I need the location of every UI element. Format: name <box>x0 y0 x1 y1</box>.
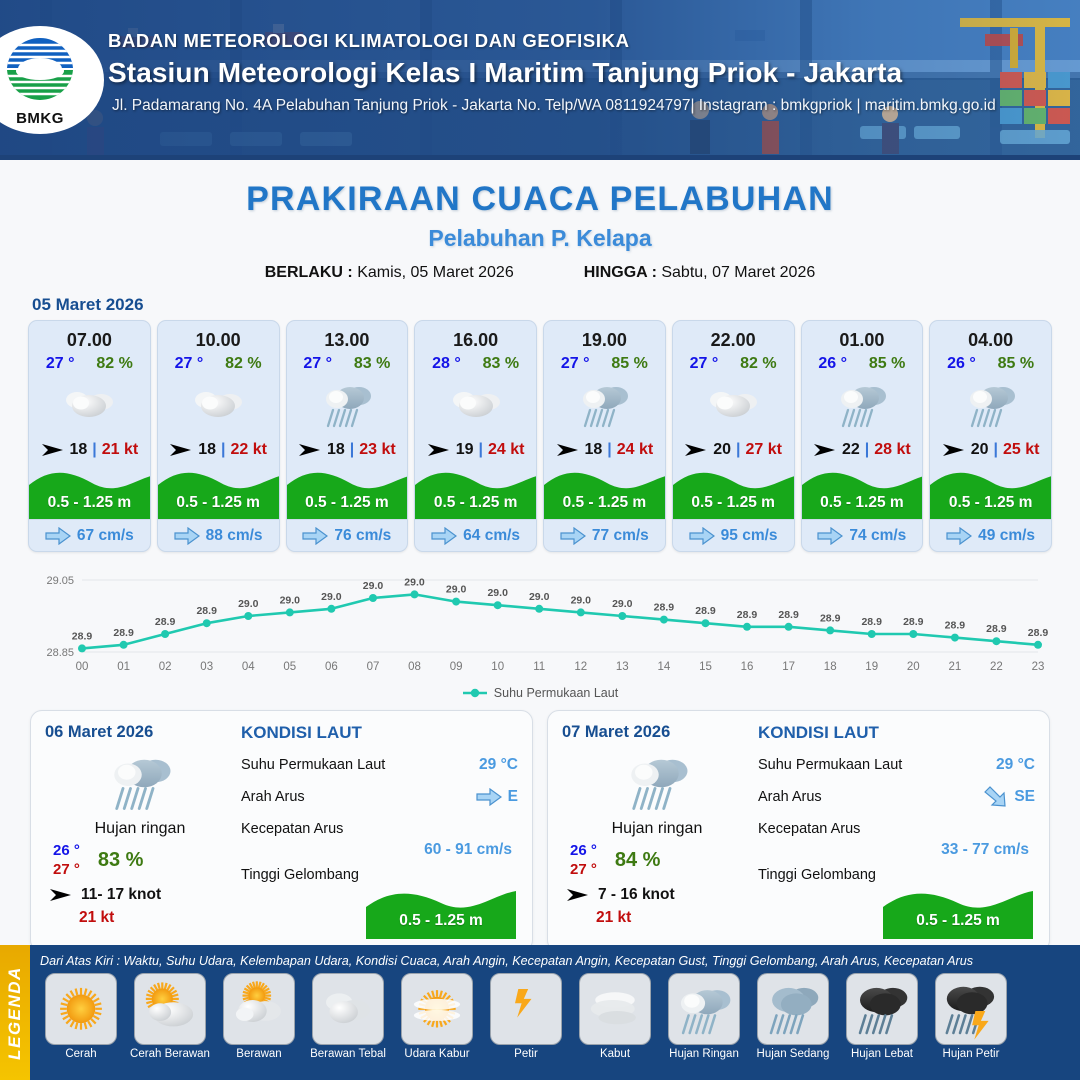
legend-item-label: Hujan Ringan <box>661 1048 747 1060</box>
panel-temp-min: 26 ° <box>53 842 80 859</box>
card-wind-sep: | <box>865 441 869 459</box>
arrow-right-icon <box>45 527 71 545</box>
svg-text:29.0: 29.0 <box>280 594 301 606</box>
card-temperature: 27 ° <box>561 355 590 373</box>
svg-text:09: 09 <box>450 661 463 673</box>
validity-row: BERLAKU : Kamis, 05 Maret 2026 HINGGA : … <box>0 264 1080 282</box>
wind-arrow-icon <box>49 887 73 903</box>
legend-item-label: Hujan Petir <box>928 1048 1014 1060</box>
card-wind-dir: 19 <box>456 441 474 459</box>
legend-item-icon-box <box>757 973 829 1045</box>
legend-item: Udara Kabur <box>394 973 480 1060</box>
panel-wave-label: Tinggi Gelombang <box>758 867 1035 883</box>
hourly-card: 22.00 27 ° 82 % 20 | 27 kt 0.5 - 1.25 m … <box>672 320 795 552</box>
card-wind: 18 | 24 kt <box>544 435 665 465</box>
legend-item-icon-box <box>223 973 295 1045</box>
arrow-right-icon <box>476 788 502 806</box>
panel-wave-label: Tinggi Gelombang <box>241 867 518 883</box>
card-time: 01.00 <box>802 321 923 351</box>
legend-item: Berawan <box>216 973 302 1060</box>
card-temperature: 26 ° <box>947 355 976 373</box>
legend-item-icon-box <box>668 973 740 1045</box>
svg-text:22: 22 <box>990 661 1003 673</box>
svg-text:28.9: 28.9 <box>72 630 93 642</box>
card-wind: 18 | 23 kt <box>287 435 408 465</box>
panel-wind-speed: 11- 17 knot <box>81 886 161 904</box>
cloudy-icon <box>446 376 506 432</box>
svg-text:08: 08 <box>408 661 421 673</box>
sun-icon <box>48 978 114 1040</box>
card-wind-dir: 18 <box>585 441 603 459</box>
card-time: 07.00 <box>29 321 150 351</box>
chart-legend: Suhu Permukaan Laut <box>0 686 1080 700</box>
card-current-speed: 95 cm/s <box>721 527 778 545</box>
legend-item-label: Petir <box>483 1048 569 1060</box>
svg-text:29.0: 29.0 <box>571 594 592 606</box>
card-humidity: 82 % <box>96 355 132 373</box>
panel-wind-speed: 7 - 16 knot <box>598 886 675 904</box>
legend-section: LEGENDA Dari Atas Kiri : Waktu, Suhu Uda… <box>0 945 1080 1080</box>
svg-text:07: 07 <box>367 661 380 673</box>
wind-arrow-icon <box>942 442 966 458</box>
legend-item: Hujan Petir <box>928 973 1014 1060</box>
legend-item-icon-box <box>401 973 473 1045</box>
hourly-card: 10.00 27 ° 82 % 18 | 22 kt 0.5 - 1.25 m … <box>157 320 280 552</box>
card-wave-height: 0.5 - 1.25 m <box>802 494 923 512</box>
legend-items: Cerah Cerah Berawan Berawan Berawan Teba… <box>38 973 1074 1060</box>
cloudy-icon <box>188 376 248 432</box>
valid-to-value: Sabtu, 07 Maret 2026 <box>661 264 815 281</box>
card-time: 13.00 <box>287 321 408 351</box>
legend-side-title: LEGENDA <box>5 966 25 1060</box>
sun-cloud-icon <box>137 978 203 1040</box>
panel-temp-min: 26 ° <box>570 842 597 859</box>
legend-item-label: Hujan Lebat <box>839 1048 925 1060</box>
legend-item-label: Berawan <box>216 1048 302 1060</box>
panel-current-speed-label: Kecepatan Arus <box>758 821 1035 837</box>
agency-name: BADAN METEOROLOGI KLIMATOLOGI DAN GEOFIS… <box>108 30 1068 52</box>
legend-item-icon-box <box>490 973 562 1045</box>
legend-item: Hujan Sedang <box>750 973 836 1060</box>
panel-current-dir-row: Arah Arus E <box>241 781 518 813</box>
legend-item-label: Cerah Berawan <box>127 1048 213 1060</box>
svg-text:23: 23 <box>1032 661 1045 673</box>
valid-to-label: HINGGA : <box>584 264 657 281</box>
card-current-speed: 74 cm/s <box>849 527 906 545</box>
card-wind: 22 | 28 kt <box>802 435 923 465</box>
svg-text:21: 21 <box>949 661 962 673</box>
svg-text:28.9: 28.9 <box>113 627 134 639</box>
hourly-day-label: 05 Maret 2026 <box>32 295 1080 315</box>
card-weather-icon <box>930 373 1051 435</box>
panel-current-dir-row: Arah Arus SE <box>758 781 1035 813</box>
card-wind: 18 | 22 kt <box>158 435 279 465</box>
card-wind: 18 | 21 kt <box>29 435 150 465</box>
light-rain-icon <box>574 376 634 432</box>
svg-text:00: 00 <box>76 661 89 673</box>
legend-item: Cerah <box>38 973 124 1060</box>
thunderstorm-icon <box>938 978 1004 1040</box>
card-wind-sep: | <box>92 441 96 459</box>
wind-arrow-icon <box>813 442 837 458</box>
legend-side-title-bar: LEGENDA <box>0 945 30 1080</box>
wind-arrow-icon <box>298 442 322 458</box>
wave-shape <box>883 883 1033 939</box>
valid-from: BERLAKU : Kamis, 05 Maret 2026 <box>265 264 514 282</box>
card-current: 88 cm/s <box>158 519 279 551</box>
svg-text:14: 14 <box>658 661 671 673</box>
svg-text:12: 12 <box>574 661 587 673</box>
wind-arrow-icon <box>169 442 193 458</box>
card-weather-icon <box>287 373 408 435</box>
card-current: 95 cm/s <box>673 519 794 551</box>
card-wind-gust: 28 kt <box>874 441 910 459</box>
wind-arrow-icon <box>684 442 708 458</box>
panel-temp-max: 27 ° <box>570 861 597 878</box>
daily-panel: 07 Maret 2026 Hujan ringan 26 ° 27 ° 84 … <box>547 710 1050 952</box>
svg-text:15: 15 <box>699 661 712 673</box>
card-wave-height: 0.5 - 1.25 m <box>930 494 1051 512</box>
card-wind-sep: | <box>607 441 611 459</box>
panel-current-dir-value: SE <box>1014 788 1035 806</box>
svg-text:18: 18 <box>824 661 837 673</box>
header-bottom-bar <box>0 155 1080 160</box>
card-humidity: 85 % <box>869 355 905 373</box>
card-humidity: 85 % <box>611 355 647 373</box>
daily-forecast-row: 06 Maret 2026 Hujan ringan 26 ° 27 ° 83 … <box>0 700 1080 952</box>
card-current: 64 cm/s <box>415 519 536 551</box>
panel-wave-value: 0.5 - 1.25 m <box>366 912 516 930</box>
panel-sst-row: Suhu Permukaan Laut 29 °C <box>758 749 1035 781</box>
card-weather-icon <box>802 373 923 435</box>
arrow-right-icon <box>946 527 972 545</box>
panel-current-dir-label: Arah Arus <box>758 789 982 805</box>
card-current: 77 cm/s <box>544 519 665 551</box>
wind-arrow-icon <box>556 442 580 458</box>
card-wind-dir: 18 <box>70 441 88 459</box>
svg-text:28.85: 28.85 <box>46 647 74 659</box>
card-wind-gust: 22 kt <box>231 441 267 459</box>
card-wind-gust: 27 kt <box>746 441 782 459</box>
panel-wind: 11- 17 knot <box>45 886 235 904</box>
card-current-speed: 49 cm/s <box>978 527 1035 545</box>
legend-item: Hujan Ringan <box>661 973 747 1060</box>
svg-text:28.9: 28.9 <box>654 602 675 614</box>
card-current-speed: 77 cm/s <box>592 527 649 545</box>
svg-text:29.0: 29.0 <box>321 591 342 603</box>
card-wind-sep: | <box>350 441 354 459</box>
card-wave-height: 0.5 - 1.25 m <box>544 494 665 512</box>
legend-item-icon-box <box>45 973 117 1045</box>
svg-text:28.9: 28.9 <box>1028 627 1049 639</box>
panel-date: 06 Maret 2026 <box>45 723 235 742</box>
legend-item-icon-box <box>579 973 651 1045</box>
cloud-sun-small-icon <box>226 978 292 1040</box>
card-humidity: 82 % <box>740 355 776 373</box>
svg-text:17: 17 <box>782 661 795 673</box>
card-temperature: 27 ° <box>46 355 75 373</box>
legend-item: Cerah Berawan <box>127 973 213 1060</box>
page-subtitle: Pelabuhan P. Kelapa <box>0 225 1080 252</box>
panel-humidity: 84 % <box>615 849 661 872</box>
panel-current-speed-label: Kecepatan Arus <box>241 821 518 837</box>
svg-text:29.0: 29.0 <box>238 598 259 610</box>
bmkg-logo-text: BMKG <box>0 110 83 127</box>
card-wave: 0.5 - 1.25 m <box>544 465 665 519</box>
card-time: 04.00 <box>930 321 1051 351</box>
card-temperature: 28 ° <box>432 355 461 373</box>
card-weather-icon <box>158 373 279 435</box>
legend-item-icon-box <box>134 973 206 1045</box>
arrow-right-icon <box>689 527 715 545</box>
card-wind-dir: 18 <box>198 441 216 459</box>
card-weather-icon <box>544 373 665 435</box>
panel-sea-header: KONDISI LAUT <box>758 723 1035 743</box>
hourly-card: 13.00 27 ° 83 % 18 | 23 kt 0.5 - 1.25 m … <box>286 320 409 552</box>
card-current: 74 cm/s <box>802 519 923 551</box>
svg-text:28.9: 28.9 <box>861 616 882 628</box>
hourly-card: 19.00 27 ° 85 % 18 | 24 kt 0.5 - 1.25 m … <box>543 320 666 552</box>
card-time: 19.00 <box>544 321 665 351</box>
light-rain-icon <box>620 746 695 816</box>
light-rain-icon <box>317 376 377 432</box>
svg-text:29.0: 29.0 <box>363 580 384 592</box>
legend-caption: Dari Atas Kiri : Waktu, Suhu Udara, Kele… <box>38 951 1074 973</box>
card-humidity: 85 % <box>998 355 1034 373</box>
station-name: Stasiun Meteorologi Kelas I Maritim Tanj… <box>108 57 1068 89</box>
panel-sst-label: Suhu Permukaan Laut <box>241 757 479 773</box>
card-wind-sep: | <box>994 441 998 459</box>
light-rain-icon <box>961 376 1021 432</box>
svg-text:29.0: 29.0 <box>487 587 508 599</box>
panel-current-speed-value: 33 - 77 cm/s <box>758 841 1029 859</box>
card-temperature: 27 ° <box>303 355 332 373</box>
wind-arrow-icon <box>566 887 590 903</box>
panel-date: 07 Maret 2026 <box>562 723 752 742</box>
svg-text:05: 05 <box>283 661 296 673</box>
card-wave: 0.5 - 1.25 m <box>287 465 408 519</box>
cloudy-icon <box>59 376 119 432</box>
fog-icon <box>582 978 648 1040</box>
card-wind: 20 | 25 kt <box>930 435 1051 465</box>
card-wind-gust: 23 kt <box>359 441 395 459</box>
panel-humidity: 83 % <box>98 849 144 872</box>
legend-item: Berawan Tebal <box>305 973 391 1060</box>
card-current: 76 cm/s <box>287 519 408 551</box>
svg-text:20: 20 <box>907 661 920 673</box>
card-wave-height: 0.5 - 1.25 m <box>287 494 408 512</box>
card-temperature: 27 ° <box>690 355 719 373</box>
panel-temp-max: 27 ° <box>53 861 80 878</box>
svg-text:28.9: 28.9 <box>155 616 176 628</box>
card-current: 67 cm/s <box>29 519 150 551</box>
card-humidity: 83 % <box>354 355 390 373</box>
panel-wind: 7 - 16 knot <box>562 886 752 904</box>
svg-text:03: 03 <box>200 661 213 673</box>
svg-text:06: 06 <box>325 661 338 673</box>
legend-item-label: Cerah <box>38 1048 124 1060</box>
legend-item-icon-box <box>846 973 918 1045</box>
card-wind-sep: | <box>479 441 483 459</box>
panel-sst-value: 29 °C <box>996 756 1035 774</box>
legend-item: Hujan Lebat <box>839 973 925 1060</box>
card-wind-sep: | <box>736 441 740 459</box>
arrow-right-icon <box>174 527 200 545</box>
wind-arrow-icon <box>41 442 65 458</box>
valid-from-label: BERLAKU : <box>265 264 353 281</box>
svg-text:29.0: 29.0 <box>446 584 467 596</box>
svg-text:01: 01 <box>117 661 130 673</box>
wind-arrow-icon <box>427 442 451 458</box>
legend-item-icon-box <box>312 973 384 1045</box>
svg-text:29.05: 29.05 <box>46 575 74 587</box>
legend-item-label: Udara Kabur <box>394 1048 480 1060</box>
panel-current-speed-value: 60 - 91 cm/s <box>241 841 512 859</box>
legend-item: Petir <box>483 973 569 1060</box>
legend-item-label: Kabut <box>572 1048 658 1060</box>
moderate-rain-icon <box>760 978 826 1040</box>
card-wave-height: 0.5 - 1.25 m <box>673 494 794 512</box>
chart-legend-label: Suhu Permukaan Laut <box>494 686 618 700</box>
hourly-card: 16.00 28 ° 83 % 19 | 24 kt 0.5 - 1.25 m … <box>414 320 537 552</box>
svg-text:16: 16 <box>741 661 754 673</box>
card-temperature: 26 ° <box>818 355 847 373</box>
hourly-forecast-row: 07.00 27 ° 82 % 18 | 21 kt 0.5 - 1.25 m … <box>0 320 1080 552</box>
card-wave: 0.5 - 1.25 m <box>673 465 794 519</box>
hourly-card: 04.00 26 ° 85 % 20 | 25 kt 0.5 - 1.25 m … <box>929 320 1052 552</box>
panel-sst-row: Suhu Permukaan Laut 29 °C <box>241 749 518 781</box>
hourly-card: 01.00 26 ° 85 % 22 | 28 kt 0.5 - 1.25 m … <box>801 320 924 552</box>
card-wave: 0.5 - 1.25 m <box>930 465 1051 519</box>
panel-wave-graphic: 0.5 - 1.25 m <box>366 883 516 939</box>
card-weather-icon <box>29 373 150 435</box>
panel-wave-graphic: 0.5 - 1.25 m <box>883 883 1033 939</box>
card-wind-dir: 20 <box>713 441 731 459</box>
panel-sst-label: Suhu Permukaan Laut <box>758 757 996 773</box>
card-temperature: 27 ° <box>175 355 204 373</box>
panel-current-dir-value: E <box>508 788 518 806</box>
arrow-right-icon <box>302 527 328 545</box>
cloudy-icon <box>703 376 763 432</box>
valid-from-value: Kamis, 05 Maret 2026 <box>357 264 514 281</box>
card-current-speed: 88 cm/s <box>206 527 263 545</box>
station-contact: Jl. Padamarang No. 4A Pelabuhan Tanjung … <box>112 97 1068 115</box>
sst-chart-svg: 29.0528.8528.90028.90128.90228.90329.004… <box>20 564 1060 684</box>
card-weather-icon <box>415 373 536 435</box>
panel-sst-value: 29 °C <box>479 756 518 774</box>
svg-text:13: 13 <box>616 661 629 673</box>
svg-text:28.9: 28.9 <box>945 620 966 632</box>
card-wave: 0.5 - 1.25 m <box>29 465 150 519</box>
panel-wave-value: 0.5 - 1.25 m <box>883 912 1033 930</box>
svg-text:10: 10 <box>491 661 504 673</box>
card-weather-icon <box>673 373 794 435</box>
hourly-card: 07.00 27 ° 82 % 18 | 21 kt 0.5 - 1.25 m … <box>28 320 151 552</box>
legend-item-label: Berawan Tebal <box>305 1048 391 1060</box>
panel-weather-icon <box>562 744 752 818</box>
light-rain-icon <box>671 978 737 1040</box>
card-humidity: 83 % <box>483 355 519 373</box>
svg-text:11: 11 <box>533 661 545 673</box>
card-wind: 20 | 27 kt <box>673 435 794 465</box>
card-current-speed: 64 cm/s <box>463 527 520 545</box>
svg-text:28.9: 28.9 <box>820 612 841 624</box>
lightning-icon <box>493 978 559 1040</box>
legend-item-icon-box <box>935 973 1007 1045</box>
panel-wind-gust: 21 kt <box>562 909 752 927</box>
svg-text:02: 02 <box>159 661 172 673</box>
haze-icon <box>404 978 470 1040</box>
bmkg-logo-mark <box>0 34 80 104</box>
svg-text:29.0: 29.0 <box>612 598 633 610</box>
sst-chart: 29.0528.8528.90028.90128.90228.90329.004… <box>20 564 1060 684</box>
arrow-right-icon <box>560 527 586 545</box>
card-wave: 0.5 - 1.25 m <box>158 465 279 519</box>
card-wind-dir: 18 <box>327 441 345 459</box>
card-wind-gust: 24 kt <box>617 441 653 459</box>
panel-condition: Hujan ringan <box>562 820 752 838</box>
card-wave: 0.5 - 1.25 m <box>415 465 536 519</box>
light-rain-icon <box>832 376 892 432</box>
card-wind: 19 | 24 kt <box>415 435 536 465</box>
page-title: PRAKIRAAN CUACA PELABUHAN <box>0 180 1080 219</box>
arrow-right-icon <box>431 527 457 545</box>
card-current: 49 cm/s <box>930 519 1051 551</box>
card-wind-sep: | <box>221 441 225 459</box>
svg-text:04: 04 <box>242 661 255 673</box>
card-wave-height: 0.5 - 1.25 m <box>415 494 536 512</box>
panel-condition: Hujan ringan <box>45 820 235 838</box>
clouds-icon <box>315 978 381 1040</box>
card-humidity: 82 % <box>225 355 261 373</box>
card-wind-gust: 25 kt <box>1003 441 1039 459</box>
svg-text:28.9: 28.9 <box>737 609 758 621</box>
svg-text:28.9: 28.9 <box>903 616 924 628</box>
card-wind-gust: 21 kt <box>102 441 138 459</box>
panel-current-dir-label: Arah Arus <box>241 789 476 805</box>
svg-text:28.9: 28.9 <box>986 623 1007 635</box>
panel-weather-icon <box>45 744 235 818</box>
card-wave: 0.5 - 1.25 m <box>802 465 923 519</box>
light-rain-icon <box>103 746 178 816</box>
valid-to: HINGGA : Sabtu, 07 Maret 2026 <box>584 264 816 282</box>
card-current-speed: 67 cm/s <box>77 527 134 545</box>
card-wind-gust: 24 kt <box>488 441 524 459</box>
chart-legend-marker <box>462 688 488 698</box>
svg-text:29.0: 29.0 <box>404 576 425 588</box>
svg-text:19: 19 <box>865 661 878 673</box>
card-wind-dir: 20 <box>971 441 989 459</box>
heavy-rain-icon <box>849 978 915 1040</box>
card-time: 22.00 <box>673 321 794 351</box>
svg-text:28.9: 28.9 <box>196 605 217 617</box>
page-header: BMKG BADAN METEOROLOGI KLIMATOLOGI DAN G… <box>0 0 1080 160</box>
wave-shape <box>366 883 516 939</box>
svg-text:28.9: 28.9 <box>695 605 716 617</box>
svg-text:28.9: 28.9 <box>778 609 799 621</box>
card-current-speed: 76 cm/s <box>334 527 391 545</box>
legend-item-label: Hujan Sedang <box>750 1048 836 1060</box>
card-time: 16.00 <box>415 321 536 351</box>
card-time: 10.00 <box>158 321 279 351</box>
arrow-right-icon <box>817 527 843 545</box>
panel-sea-header: KONDISI LAUT <box>241 723 518 743</box>
card-wave-height: 0.5 - 1.25 m <box>158 494 279 512</box>
legend-item: Kabut <box>572 973 658 1060</box>
panel-wind-gust: 21 kt <box>45 909 235 927</box>
card-wave-height: 0.5 - 1.25 m <box>29 494 150 512</box>
arrow-down-right-icon <box>982 784 1008 810</box>
